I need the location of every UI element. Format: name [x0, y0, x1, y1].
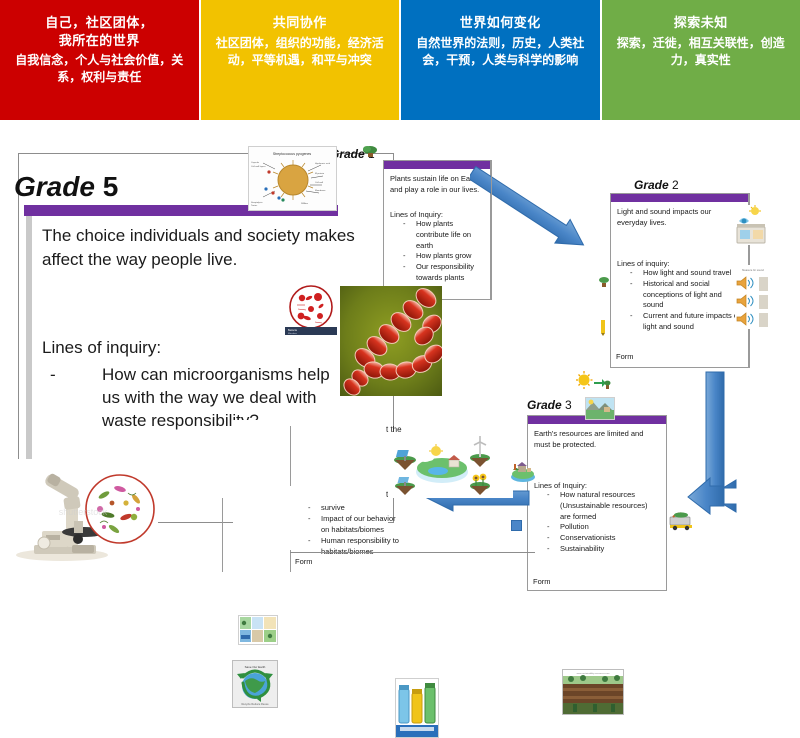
list-item: Impact of our behavior on habitats/biome… [295, 514, 405, 536]
theme-card-how-we-organize-ourselves: 共同协作 社区团体，组织的功能，经济活动，平等机遇，和平与冲突 [201, 0, 402, 120]
theme-description: 探索，迁徙，相互关联性，创造力，真实性 [610, 35, 793, 70]
grade3-central-idea: Earth's resources are limited and must b… [534, 429, 660, 451]
grade2-panel-bar [611, 194, 749, 202]
grade2-label: Grade 2 [634, 178, 679, 192]
grade2-lines-list: How light and sound travel Historical an… [617, 268, 743, 333]
grade4-inner-rule [290, 426, 291, 486]
microscope-bacteria-image: shutterstock [8, 459, 158, 569]
grade4-column-divider [290, 550, 291, 572]
grade5-label-number: 5 [103, 171, 119, 202]
grade4-bottom-rule [290, 552, 535, 553]
grade2-lines-heading: Lines of inquiry: [617, 259, 743, 268]
list-item: Conservationists [534, 533, 660, 544]
grade3-lines-heading: Lines of Inquiry: [534, 481, 660, 490]
lab-bottles-clipart [395, 678, 439, 738]
theme-description: 自我信念，个人与社会价值，关系，权利与责任 [8, 52, 191, 87]
list-item: Sustainability [534, 544, 660, 555]
svg-text:Measure for sound: Measure for sound [742, 268, 764, 272]
theme-card-how-the-world-works: 世界如何变化 自然世界的法则，历史，人类社会，干预，人类与科学的影响 [401, 0, 602, 120]
list-item: Pollution [534, 522, 660, 533]
arrow-grade1-to-grade2 [470, 165, 620, 275]
sound-speaker-clipart: Measure for sound [735, 265, 771, 329]
grade5-line-dash: - [50, 364, 56, 387]
grade4-left-rule [222, 498, 223, 572]
grade1-column-divider [491, 160, 492, 300]
streptococcus-diagram-image: Streptococcus pyogenes CapsuleCell wall … [248, 146, 337, 211]
plant-leaf-clipart [362, 145, 378, 159]
grade3-panel[interactable]: Earth's resources are limited and must b… [527, 415, 667, 591]
svg-text:M protein: M protein [315, 172, 325, 175]
theme-title: 自己，社区团体， 我所在的世界 [45, 14, 153, 49]
grade5-label-word: Grade [14, 171, 95, 202]
grade2-central-idea: Light and sound impacts our everyday liv… [617, 207, 743, 229]
svg-text:Toxins: Toxins [251, 205, 258, 207]
list-item: survive [295, 503, 405, 514]
svg-text:Capsule: Capsule [251, 162, 260, 164]
grade3-label-word: Grade [527, 398, 562, 412]
theme-title: 世界如何变化 [460, 14, 541, 32]
list-item: Current and future impacts of light and … [617, 311, 743, 333]
save-our-earth-clipart: Save Our Earth Recycle Reduce Reuse [232, 660, 278, 708]
svg-text:shutterstock: shutterstock [59, 507, 108, 517]
grade3-label: Grade 3 [527, 398, 572, 412]
light-room-clipart [735, 205, 769, 245]
village-clipart [510, 458, 536, 484]
grade2-label-word: Grade [634, 178, 669, 192]
mining-truck-clipart [668, 509, 696, 531]
list-item: How light and sound travel [617, 268, 743, 279]
grade2-label-number: 2 [672, 178, 679, 192]
bacteria-chain-photo [340, 286, 442, 396]
grade5-lines-heading: Lines of inquiry: [42, 338, 161, 358]
svg-text:Recycle Reduce Reuse: Recycle Reduce Reuse [241, 702, 269, 706]
svg-text:Membrane: Membrane [315, 189, 326, 192]
grade3-lines-list: How natural resources (Unsustainable res… [534, 490, 660, 555]
theme-title: 探索未知 [674, 14, 728, 32]
svg-text:Streptolysin: Streptolysin [251, 201, 263, 204]
sun-plant-clipart [575, 370, 611, 392]
svg-text:Bacteria: Bacteria [288, 329, 297, 332]
theme-card-where-we-are-in-place-and-time: 探索未知 探索，迁徙，相互关联性，创造力，真实性 [602, 0, 800, 120]
concept-map-canvas: Grade 5 The choice individuals and socie… [0, 120, 800, 616]
theme-description: 社区团体，组织的功能，经济活动，平等机遇，和平与冲突 [209, 35, 392, 70]
svg-text:Cell wall: Cell wall [315, 182, 324, 184]
grade2-footer: Form [616, 352, 634, 361]
landscape-clipart [585, 397, 615, 420]
theme-description: 自然世界的法则，历史，人类社会，干预，人类与科学的影响 [409, 35, 592, 70]
list-item: Human responsibility to habitats/biomes [295, 536, 405, 558]
biome-island-clipart [388, 432, 513, 498]
blue-square-marker [511, 520, 522, 531]
list-item: How natural resources (Unsustainable res… [534, 490, 660, 523]
sprout-clipart [597, 275, 611, 289]
arrow-grade2-to-grade3 [680, 370, 750, 515]
svg-text:Streptococcus pyogenes: Streptococcus pyogenes [273, 152, 312, 156]
transdisciplinary-theme-strip: 自己，社区团体， 我所在的世界 自我信念，个人与社会价值，关系，权利与责任 共同… [0, 0, 800, 120]
svg-text:Cell wall layers: Cell wall layers [251, 165, 266, 168]
grade3-label-number: 3 [565, 398, 572, 412]
grade2-panel[interactable]: Light and sound impacts our everyday liv… [610, 193, 750, 368]
svg-text:Hyaluronic acid: Hyaluronic acid [315, 162, 331, 165]
grade5-label: Grade 5 [14, 171, 118, 203]
grade3-footer: Form [533, 577, 551, 586]
svg-text:Save Our Earth: Save Our Earth [245, 665, 266, 669]
grade5-central-idea: The choice individuals and society makes… [42, 224, 362, 272]
svg-text:www.sustainability-resources.c: www.sustainability-resources.com [577, 672, 610, 675]
svg-text:Microbes: Microbes [288, 332, 298, 335]
list-item: Historical and social conceptions of lig… [617, 279, 743, 312]
grade4-lines-list: survive Impact of our behavior on habita… [295, 503, 405, 557]
habitat-clipart [238, 615, 278, 645]
theme-title: 共同协作 [273, 14, 327, 32]
grade4-footer: Form [295, 557, 313, 566]
svg-text:DNAse: DNAse [301, 202, 309, 205]
marker-clipart [600, 320, 606, 336]
bacteria-circle-image: Bacteria Microbes [285, 285, 337, 335]
quarry-photo: www.sustainability-resources.com [562, 669, 624, 715]
theme-card-who-we-are: 自己，社区团体， 我所在的世界 自我信念，个人与社会价值，关系，权利与责任 [0, 0, 201, 120]
